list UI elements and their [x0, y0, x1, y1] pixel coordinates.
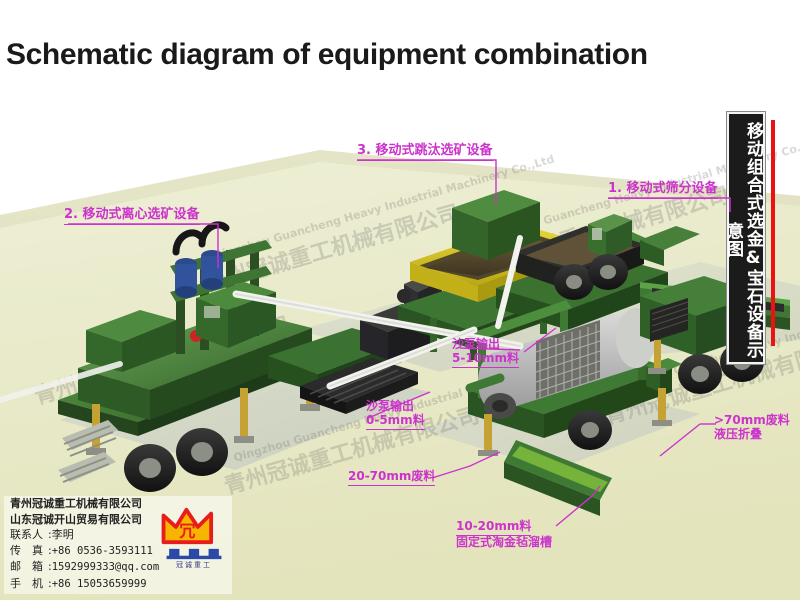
annotation-eq2: 2. 移动式离心选矿设备	[64, 208, 200, 225]
annotation-waste-over-70mm-line1: >70mm废料	[714, 414, 790, 428]
annotation-pump-0-5mm: 沙泵输出 0-5mm料	[366, 400, 425, 430]
annotation-eq1: 1. 移动式筛分设备	[608, 182, 718, 199]
email-label: 邮 箱	[10, 559, 48, 575]
fax-value: +86 0536-3593111	[52, 545, 153, 557]
annotation-waste-over-70mm: >70mm废料 液压折叠	[714, 414, 790, 442]
annotation-sluice-10-20mm-line2: 固定式淘金毡溜槽	[456, 536, 552, 550]
crown-icon: 冗	[158, 506, 230, 546]
annotation-eq3: 3. 移动式跳汰选矿设备	[357, 144, 493, 161]
mobile-value: +86 15053659999	[52, 578, 147, 590]
company-logo: 冗 冠诚重工	[158, 506, 230, 568]
annotation-eq1-text: 1. 移动式筛分设备	[608, 182, 718, 199]
annotation-pump-5-10mm-line1: 沙泵输出	[452, 338, 519, 352]
annotation-eq3-text: 3. 移动式跳汰选矿设备	[357, 144, 493, 161]
mobile-label: 手 机	[10, 576, 48, 592]
annotation-waste-over-70mm-line2: 液压折叠	[714, 428, 790, 442]
annotation-pump-5-10mm: 沙泵输出 5-10mm料	[452, 338, 519, 368]
annotation-sluice-10-20mm: 10-20mm料 固定式淘金毡溜槽	[456, 520, 552, 550]
logo-base-blocks	[162, 548, 226, 560]
annotation-pump-0-5mm-line2: 0-5mm料	[366, 414, 425, 430]
logo-subtitle: 冠诚重工	[158, 560, 230, 570]
mobile-row: 手 机:+86 15053659999	[4, 576, 232, 593]
annotation-waste-20-70mm-text: 20-70mm废料	[348, 470, 435, 486]
annotation-eq2-text: 2. 移动式离心选矿设备	[64, 208, 200, 225]
schematic-canvas: 青州冠诚重工机械有限公司 Qingzhou Guancheng Heavy In…	[0, 0, 800, 600]
annotation-pump-5-10mm-line2: 5-10mm料	[452, 352, 519, 368]
annotation-waste-20-70mm: 20-70mm废料	[348, 470, 435, 486]
annotation-sluice-10-20mm-line1: 10-20mm料	[456, 520, 531, 536]
contact-person-label: 联系人	[10, 527, 48, 543]
contact-person-value: 李明	[52, 528, 74, 541]
fax-label: 传 真	[10, 543, 48, 559]
annotation-pump-0-5mm-line1: 沙泵输出	[366, 400, 425, 414]
svg-text:冗: 冗	[179, 521, 195, 540]
email-value: 1592999333@qq.com	[52, 561, 159, 573]
